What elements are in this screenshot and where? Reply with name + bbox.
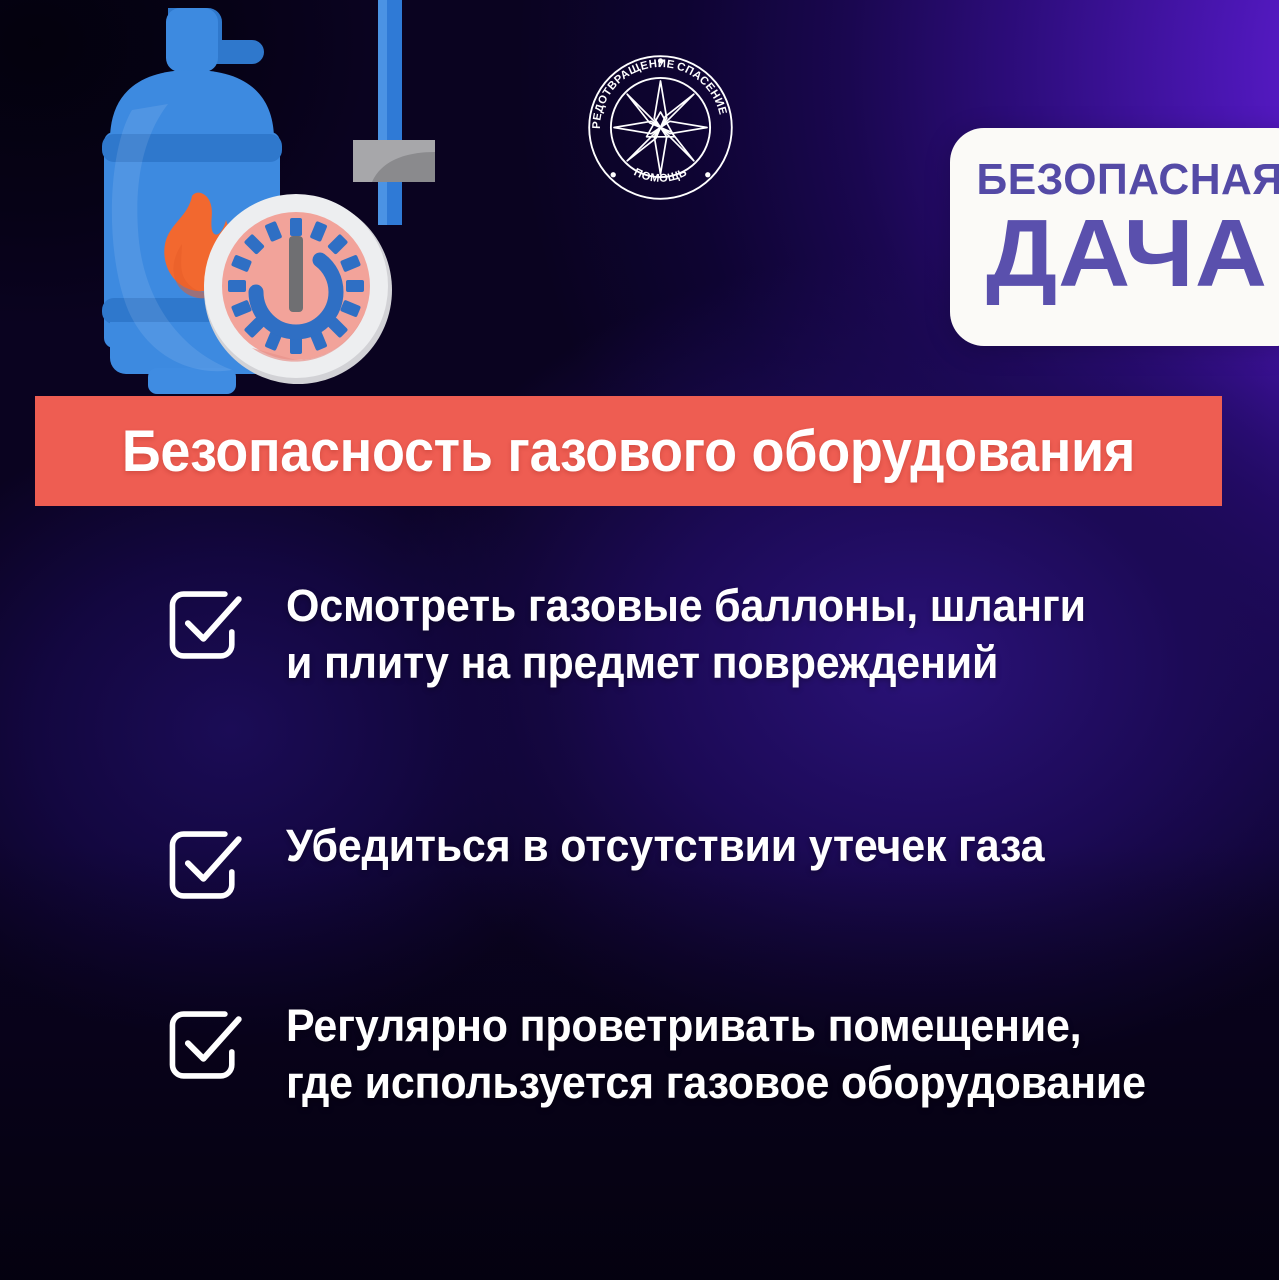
pressure-gauge-icon	[204, 194, 392, 384]
poster-root: ПРЕДОТВРАЩЕНИЕ СПАСЕНИЕ ПОМОЩЬ БЕЗОПАСНА…	[0, 0, 1279, 1280]
badge-line1-text: БЕЗОПАСНАЯ	[975, 158, 1279, 202]
checkbox-checked-icon	[163, 1002, 249, 1088]
emercom-logo: ПРЕДОТВРАЩЕНИЕ СПАСЕНИЕ ПОМОЩЬ	[583, 50, 738, 205]
badge-line2-text: ДАЧА	[957, 206, 1279, 302]
list-item: Осмотреть газовые баллоны, шланги и плит…	[163, 578, 1263, 691]
banner-title-text: Безопасность газового оборудования	[77, 396, 1181, 506]
title-banner: Безопасность газового оборудования	[35, 396, 1222, 506]
gas-equipment-illustration	[0, 0, 560, 400]
list-item: Регулярно проветривать помещение, где ис…	[163, 998, 1263, 1111]
safe-dacha-badge: БЕЗОПАСНАЯ ДАЧА	[950, 128, 1279, 346]
list-item: Убедиться в отсутствии утечек газа	[163, 818, 1263, 908]
gauge-needle	[289, 236, 303, 312]
list-item-text: Регулярно проветривать помещение, где ис…	[286, 998, 1146, 1111]
star-of-hope-icon	[614, 81, 707, 174]
list-item-text: Осмотреть газовые баллоны, шланги и плит…	[286, 578, 1086, 691]
checkbox-checked-icon	[163, 582, 249, 668]
gas-pipe-icon	[353, 0, 435, 225]
list-item-text: Убедиться в отсутствии утечек газа	[286, 818, 1044, 875]
checkbox-checked-icon	[163, 822, 249, 908]
